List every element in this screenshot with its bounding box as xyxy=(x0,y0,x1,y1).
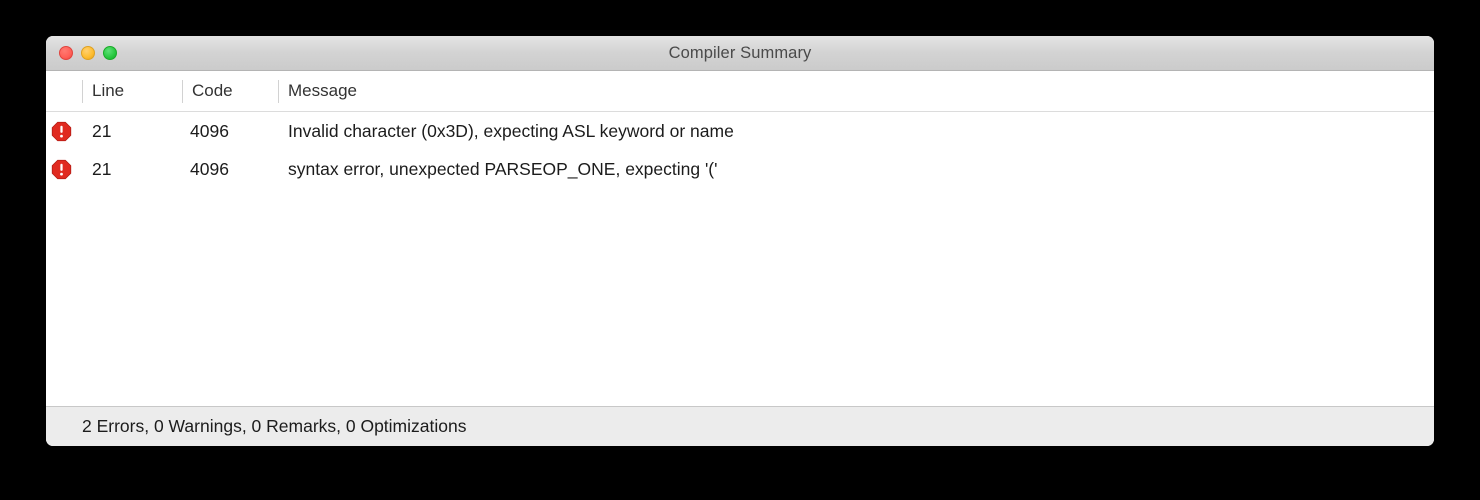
compiler-summary-window: Compiler Summary Line Code Message 21 40… xyxy=(46,36,1434,446)
column-header-line[interactable]: Line xyxy=(92,71,124,111)
column-divider xyxy=(278,80,279,103)
status-bar: 2 Errors, 0 Warnings, 0 Remarks, 0 Optim… xyxy=(46,406,1434,446)
maximize-button[interactable] xyxy=(103,46,117,60)
window-controls xyxy=(59,36,117,70)
cell-line: 21 xyxy=(92,150,111,188)
cell-code: 4096 xyxy=(190,112,229,150)
minimize-button[interactable] xyxy=(81,46,95,60)
cell-code: 4096 xyxy=(190,150,229,188)
cell-message: syntax error, unexpected PARSEOP_ONE, ex… xyxy=(288,150,717,188)
cell-message: Invalid character (0x3D), expecting ASL … xyxy=(288,112,734,150)
window-titlebar: Compiler Summary xyxy=(46,36,1434,71)
column-divider xyxy=(182,80,183,103)
column-divider xyxy=(82,80,83,103)
close-button[interactable] xyxy=(59,46,73,60)
error-octagon-icon xyxy=(51,159,72,180)
table-row[interactable]: 21 4096 syntax error, unexpected PARSEOP… xyxy=(46,150,1434,188)
table-row[interactable]: 21 4096 Invalid character (0x3D), expect… xyxy=(46,112,1434,150)
table-header-row: Line Code Message xyxy=(46,71,1434,112)
status-summary-text: 2 Errors, 0 Warnings, 0 Remarks, 0 Optim… xyxy=(82,416,466,437)
cell-line: 21 xyxy=(92,112,111,150)
column-header-code[interactable]: Code xyxy=(192,71,233,111)
column-header-message[interactable]: Message xyxy=(288,71,357,111)
window-title: Compiler Summary xyxy=(669,44,812,63)
error-octagon-icon xyxy=(51,121,72,142)
diagnostics-list[interactable]: 21 4096 Invalid character (0x3D), expect… xyxy=(46,112,1434,406)
